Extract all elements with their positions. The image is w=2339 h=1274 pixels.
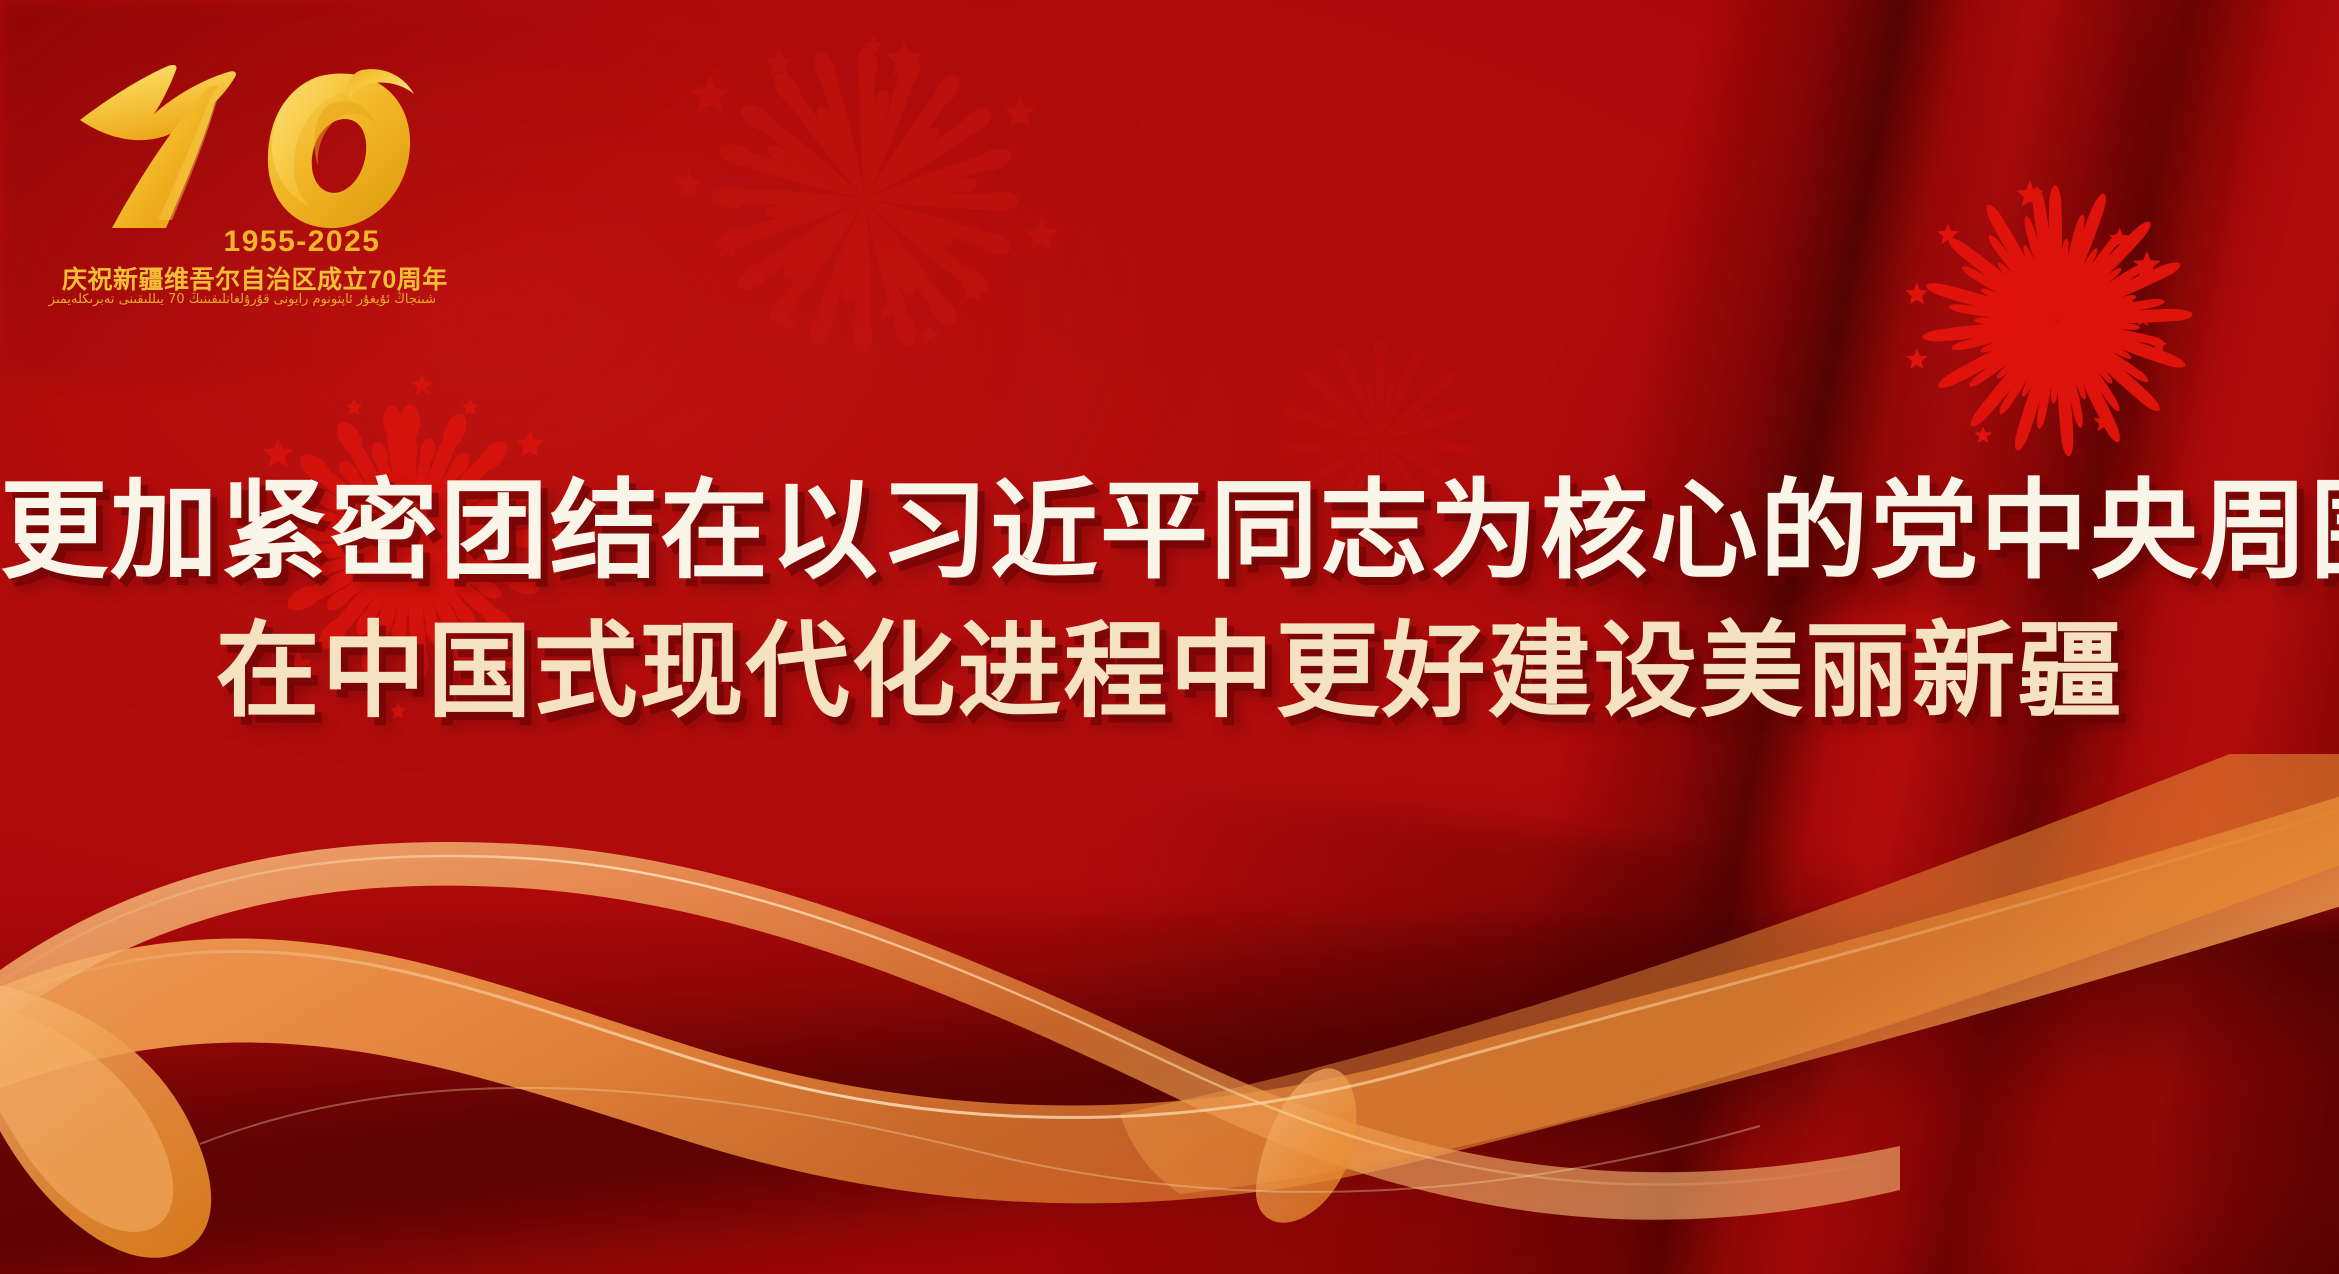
logo-70-ribbon-numeral: [62, 44, 432, 234]
logo-caption-uyghur: شىنجاڭ ئۇيغۇر ئاپتونوم رايونى قۇرۇلغانلى…: [62, 292, 436, 307]
headline-line-2: 在中国式现代化进程中更好建设美丽新疆: [0, 613, 2339, 734]
anniversary-logo: 1955-2025 庆祝新疆维吾尔自治区成立70周年 شىنجاڭ ئۇيغۇر…: [62, 44, 442, 234]
headline-slogan: 更加紧密团结在以习近平同志为核心的党中央周围 在中国式现代化进程中更好建设美丽新…: [0, 470, 2339, 734]
headline-line-1: 更加紧密团结在以习近平同志为核心的党中央周围: [0, 470, 2339, 595]
logo-caption-chinese: 庆祝新疆维吾尔自治区成立70周年: [62, 260, 436, 296]
logo-year-range: 1955-2025: [172, 225, 432, 259]
celebration-poster: 1955-2025 庆祝新疆维吾尔自治区成立70周年 شىنجاڭ ئۇيغۇر…: [0, 0, 2339, 1274]
